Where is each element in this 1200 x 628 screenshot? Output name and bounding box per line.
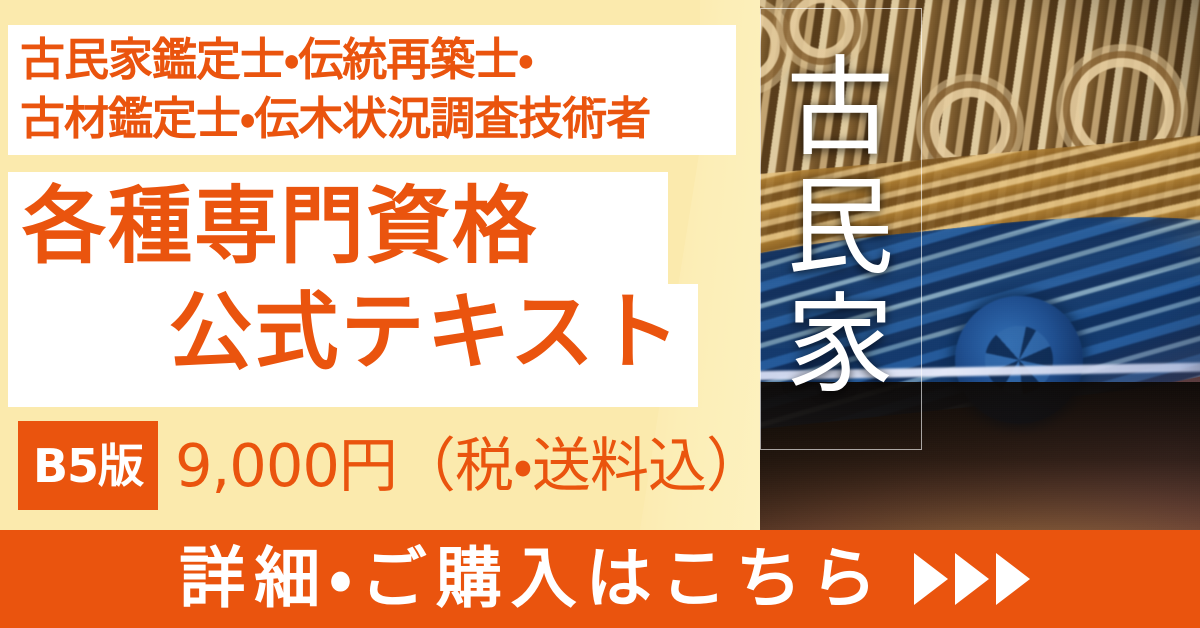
book-cover-title-char-3: 家 bbox=[786, 289, 894, 403]
price-text: 9,000円（税・送料込） bbox=[175, 428, 764, 504]
headline-text: 各種専門資格 公式テキスト bbox=[16, 184, 696, 374]
cta-label: 詳細・ご購入はこちら bbox=[170, 546, 885, 612]
book-cover-title-char-2: 民 bbox=[786, 171, 894, 285]
headline-line-2: 公式テキスト bbox=[16, 290, 696, 374]
triangle-right-icon bbox=[996, 553, 1030, 605]
kicker-text: 古民家鑑定士・伝統再築士・ 古材鑑定士・伝木状況調査技術者 bbox=[20, 30, 732, 149]
kicker-line-1: 古民家鑑定士・伝統再築士・ bbox=[20, 30, 732, 89]
kicker-line-2: 古材鑑定士・伝木状況調査技術者 bbox=[20, 89, 732, 148]
format-badge-label: B5版 bbox=[33, 443, 143, 489]
book-cover-title: 古 民 家 bbox=[760, 8, 920, 448]
headline-line-1: 各種専門資格 bbox=[16, 184, 696, 268]
triangle-right-icon bbox=[914, 553, 948, 605]
promo-banner: 古 民 家 伝統構法 古民家活用のための調査と再生の 古民家鑑定士・伝統再築士・… bbox=[0, 0, 1200, 628]
book-cover-title-char-1: 古 bbox=[786, 52, 894, 166]
cta-arrow-group bbox=[914, 553, 1030, 605]
format-badge: B5版 bbox=[18, 421, 158, 510]
cta-bar[interactable]: 詳細・ご購入はこちら bbox=[0, 530, 1200, 628]
triangle-right-icon bbox=[955, 553, 989, 605]
